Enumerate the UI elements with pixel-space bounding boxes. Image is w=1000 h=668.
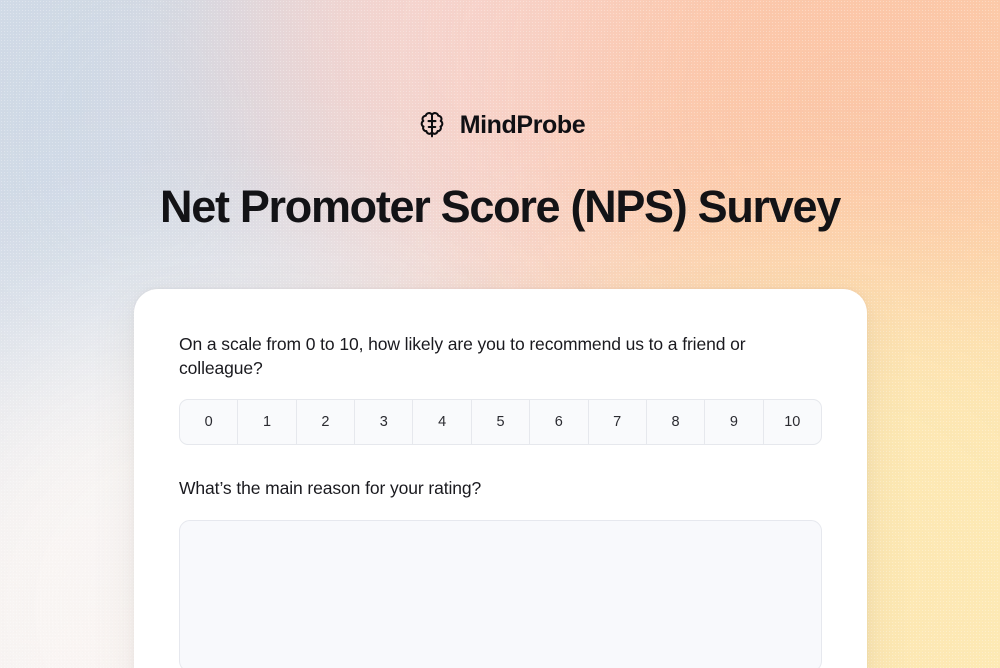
nps-scale-option-9[interactable]: 9 [704,400,762,444]
page-title: Net Promoter Score (NPS) Survey [0,183,1000,232]
brand-name: MindProbe [460,113,586,138]
nps-scale-option-3[interactable]: 3 [354,400,412,444]
nps-scale-group[interactable]: 0 1 2 3 4 5 6 7 8 9 10 [179,399,822,445]
nps-scale-option-8[interactable]: 8 [646,400,704,444]
survey-page: MindProbe Net Promoter Score (NPS) Surve… [0,0,1000,668]
nps-scale-option-1[interactable]: 1 [237,400,295,444]
survey-card: On a scale from 0 to 10, how likely are … [134,289,867,668]
nps-scale-option-5[interactable]: 5 [471,400,529,444]
nps-scale-option-10[interactable]: 10 [763,400,821,444]
brand-logo: MindProbe [0,0,1000,142]
nps-scale-option-6[interactable]: 6 [529,400,587,444]
nps-scale-option-0[interactable]: 0 [180,400,237,444]
nps-scale-option-2[interactable]: 2 [296,400,354,444]
nps-scale-option-7[interactable]: 7 [588,400,646,444]
question-label-nps-score: On a scale from 0 to 10, how likely are … [179,332,822,380]
question-label-nps-reason: What’s the main reason for your rating? [179,476,822,500]
brain-icon [415,108,449,142]
nps-reason-textarea[interactable] [179,520,822,668]
nps-scale-option-4[interactable]: 4 [412,400,470,444]
